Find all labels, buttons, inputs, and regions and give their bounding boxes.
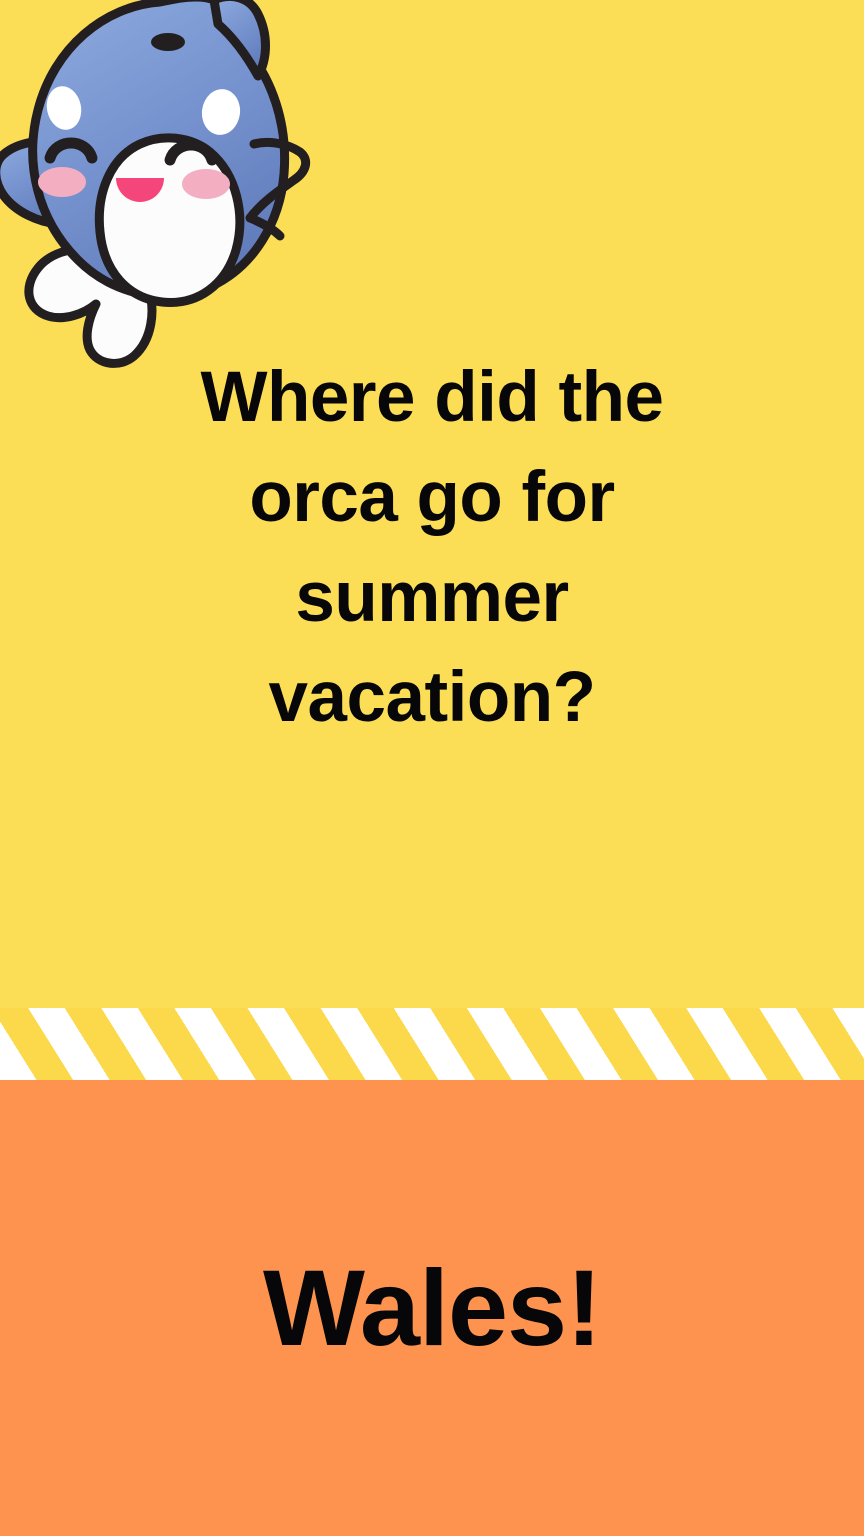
question-line-2: orca go for bbox=[82, 448, 782, 548]
left-blush bbox=[38, 167, 86, 197]
kawaii-orca-illustration bbox=[0, 0, 342, 382]
question-text: Where did the orca go for summer vacatio… bbox=[82, 348, 782, 748]
question-line-4: vacation? bbox=[82, 648, 782, 748]
question-line-3: summer bbox=[82, 548, 782, 648]
orca-group bbox=[0, 0, 306, 363]
right-blush bbox=[182, 169, 230, 199]
question-line-1: Where did the bbox=[82, 348, 782, 448]
answer-text: Wales! bbox=[0, 1245, 864, 1371]
blowhole-icon bbox=[151, 33, 185, 51]
joke-card: Where did the orca go for summer vacatio… bbox=[0, 0, 864, 1536]
diagonal-stripe-divider bbox=[0, 1008, 864, 1080]
question-panel: Where did the orca go for summer vacatio… bbox=[0, 0, 864, 1008]
